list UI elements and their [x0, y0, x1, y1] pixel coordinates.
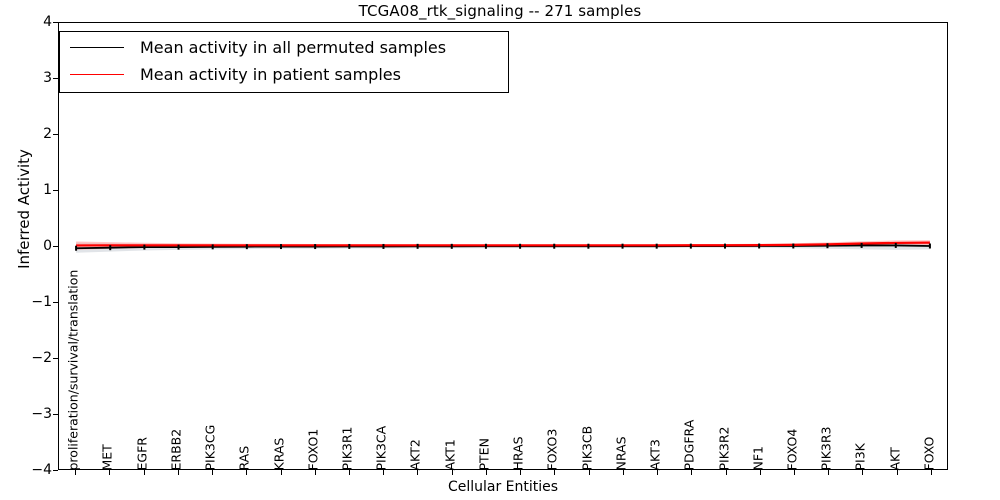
x-tick-mark: [794, 470, 795, 475]
chart-legend: Mean activity in all permuted samplesMea…: [59, 31, 509, 93]
x-tick-label: ERBB2: [170, 428, 183, 470]
x-tick-mark: [383, 470, 384, 475]
x-tick-label: NRAS: [615, 436, 628, 470]
x-tick-mark: [589, 470, 590, 475]
x-axis-label: Cellular Entities: [58, 479, 948, 495]
x-tick-mark: [657, 470, 658, 475]
x-tick-mark: [691, 470, 692, 475]
x-tick-label: AKT: [889, 447, 902, 470]
x-tick-mark: [931, 470, 932, 475]
x-tick-mark: [349, 470, 350, 475]
x-tick-mark: [828, 470, 829, 475]
x-tick-label: PIK3CB: [581, 425, 594, 470]
x-tick-label: FOXO4: [786, 428, 799, 470]
x-tick-mark: [212, 470, 213, 475]
y-tick-label: 3: [8, 70, 52, 86]
legend-label: Mean activity in patient samples: [140, 65, 401, 84]
x-tick-mark: [246, 470, 247, 475]
x-tick-mark: [417, 470, 418, 475]
x-tick-mark: [897, 470, 898, 475]
x-tick-label: proliferation/survival/translation: [68, 269, 81, 470]
x-tick-mark: [554, 470, 555, 475]
legend-label: Mean activity in all permuted samples: [140, 38, 446, 57]
x-tick-label: FOXO: [923, 436, 936, 470]
x-tick-mark: [109, 470, 110, 475]
x-tick-mark: [144, 470, 145, 475]
x-tick-label: FOXO3: [547, 428, 560, 470]
y-tick-label: −2: [8, 350, 52, 366]
x-axis-tick-marks: [58, 470, 948, 476]
y-tick-label: −3: [8, 406, 52, 422]
y-tick-label: 4: [8, 14, 52, 30]
x-tick-label: AKT3: [650, 439, 663, 470]
x-tick-label: PIK3R1: [341, 426, 354, 470]
x-tick-label: KRAS: [273, 437, 286, 470]
x-tick-label: PIK3R3: [821, 426, 834, 470]
legend-line-swatch: [70, 47, 124, 48]
x-tick-mark: [452, 470, 453, 475]
x-tick-label: PDGFRA: [684, 419, 697, 470]
x-tick-label: FOXO1: [307, 428, 320, 470]
x-tick-label: NF1: [752, 446, 765, 471]
x-tick-label: EGFR: [136, 437, 149, 470]
x-tick-mark: [760, 470, 761, 475]
x-tick-mark: [315, 470, 316, 475]
y-axis-label: Inferred Activity: [15, 89, 33, 329]
x-tick-mark: [75, 470, 76, 475]
x-tick-mark: [726, 470, 727, 475]
x-tick-label: MET: [102, 444, 115, 470]
x-tick-label: HRAS: [513, 436, 526, 470]
legend-line-swatch: [70, 74, 124, 75]
x-tick-mark: [623, 470, 624, 475]
x-tick-mark: [486, 470, 487, 475]
legend-entry: Mean activity in patient samples: [70, 62, 401, 86]
x-tick-mark: [862, 470, 863, 475]
x-tick-label: PTEN: [478, 438, 491, 470]
x-tick-label: AKT2: [410, 439, 423, 470]
x-tick-label: PI3K: [855, 443, 868, 470]
x-tick-label: AKT1: [444, 439, 457, 470]
x-tick-label: PIK3CG: [205, 424, 218, 470]
x-tick-mark: [520, 470, 521, 475]
chart-figure: TCGA08_rtk_signaling -- 271 samples 4321…: [0, 0, 1000, 500]
legend-entry: Mean activity in all permuted samples: [70, 35, 446, 59]
x-tick-label: PIK3R2: [718, 426, 731, 470]
y-tick-label: −4: [8, 462, 52, 478]
x-tick-label: PIK3CA: [376, 425, 389, 470]
x-tick-mark: [281, 470, 282, 475]
x-tick-label: RAS: [239, 445, 252, 470]
x-tick-mark: [178, 470, 179, 475]
